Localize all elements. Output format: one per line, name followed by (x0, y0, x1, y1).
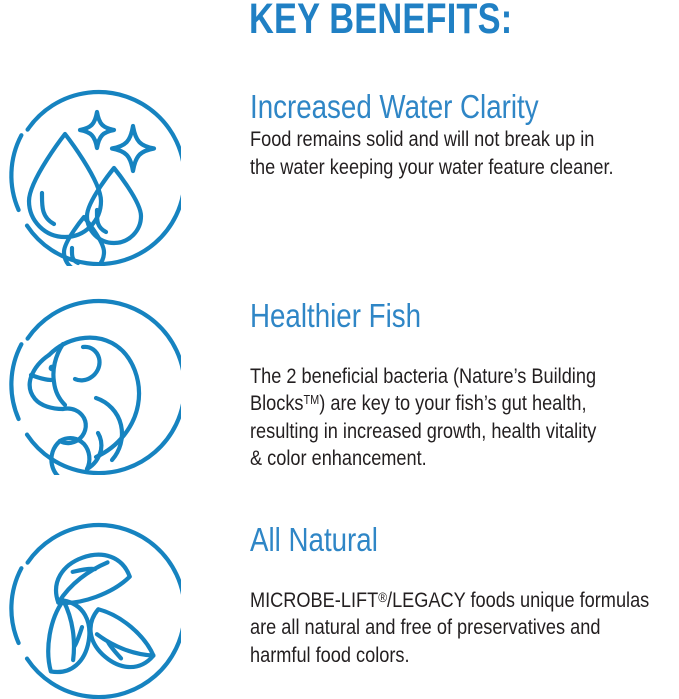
benefit-heading-all-natural: All Natural (250, 521, 610, 558)
benefit-item-water-clarity: Increased Water Clarity Food remains sol… (0, 88, 679, 268)
water-droplets-sparkle-icon (3, 88, 181, 266)
benefit-text-all-natural: All Natural MICROBE-LIFT®/LEGACY foods u… (250, 521, 678, 669)
key-benefits-page: KEY BENEFITS: (0, 0, 679, 692)
trademark-symbol: TM (304, 392, 320, 407)
benefit-text-water-clarity: Increased Water Clarity Food remains sol… (250, 88, 678, 181)
page-title: KEY BENEFITS: (249, 0, 512, 43)
benefit-body-all-natural: MICROBE-LIFT®/LEGACY foods unique formul… (250, 559, 678, 669)
benefit-text-healthier-fish: Healthier Fish The 2 beneficial bacteria… (250, 297, 678, 473)
benefit-heading-healthier-fish: Healthier Fish (250, 297, 610, 334)
brand-name-microbe-lift: MICROBE-LIFT (250, 588, 378, 612)
registered-symbol: ® (378, 589, 387, 605)
benefit-body-water-clarity: Food remains solid and will not break up… (250, 126, 678, 181)
leaping-fish-icon (3, 297, 181, 475)
three-leaves-recycle-icon (3, 521, 181, 699)
benefit-item-all-natural: All Natural MICROBE-LIFT®/LEGACY foods u… (0, 521, 679, 696)
benefit-body-healthier-fish: The 2 beneficial bacteria (Nature’s Buil… (250, 335, 678, 473)
benefit-heading-water-clarity: Increased Water Clarity (250, 88, 610, 125)
benefit-item-healthier-fish: Healthier Fish The 2 beneficial bacteria… (0, 297, 679, 477)
